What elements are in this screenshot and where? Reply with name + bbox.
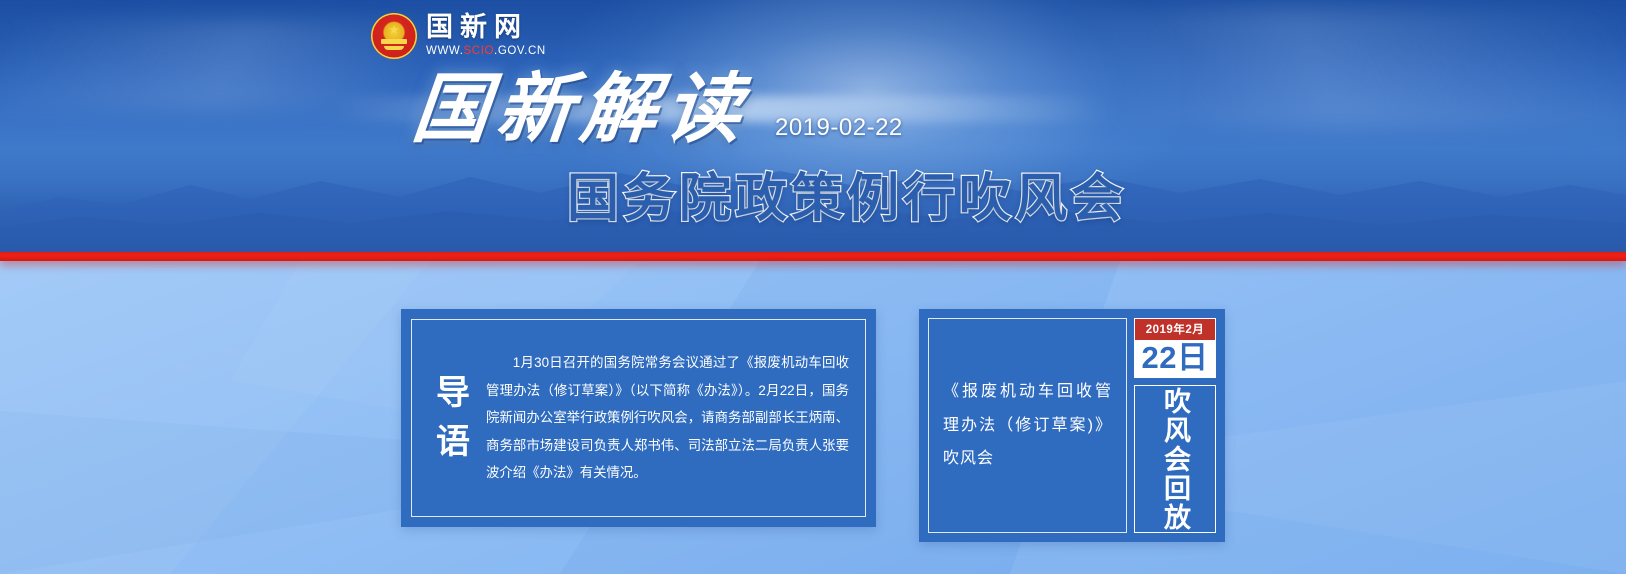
red-divider-bar — [0, 252, 1626, 261]
cards-row: 导语 1月30日召开的国务院常务会议通过了《报废机动车回收管理办法（修订草案）》… — [0, 261, 1626, 574]
national-emblem-icon: ★ — [371, 13, 417, 59]
replay-title-box: 《报废机动车回收管理办法（修订草案)》吹风会 — [928, 318, 1127, 533]
logo-url-prefix: WWW. — [426, 45, 464, 57]
replay-side-column: 2019年2月 22日 吹风会回放 — [1134, 318, 1216, 533]
cloud-decoration-right — [1006, 8, 1626, 128]
site-logo[interactable]: ★ 国新网 WWW.SCIO.GOV.CN — [371, 13, 546, 59]
date-day: 22日 — [1135, 340, 1215, 377]
hero-title-group: 国新解读 2019-02-22 — [413, 72, 903, 148]
logo-url-mid: SCIO — [464, 45, 495, 57]
content-area: 导语 1月30日召开的国务院常务会议通过了《报废机动车回收管理办法（修订草案）》… — [0, 261, 1626, 574]
hero-date: 2019-02-22 — [775, 114, 903, 142]
logo-url: WWW.SCIO.GOV.CN — [426, 46, 546, 58]
intro-card-inner: 导语 1月30日召开的国务院常务会议通过了《报废机动车回收管理办法（修订草案）》… — [411, 319, 866, 517]
replay-playback-button[interactable]: 吹风会回放 — [1134, 385, 1216, 533]
logo-title: 国新网 — [426, 14, 546, 41]
replay-playback-label: 吹风会回放 — [1161, 387, 1189, 532]
hero-subtitle: 国务院政策例行吹风会 — [567, 174, 1127, 226]
page-title: 国新解读 — [409, 72, 753, 148]
replay-card[interactable]: 《报废机动车回收管理办法（修订草案)》吹风会 2019年2月 22日 吹风会回放 — [919, 309, 1225, 542]
replay-title: 《报废机动车回收管理办法（修订草案)》吹风会 — [943, 375, 1112, 476]
scio-press-conference-banner-page: ★ 国新网 WWW.SCIO.GOV.CN 国新解读 2019-02-22 国务… — [0, 0, 1626, 574]
intro-card: 导语 1月30日召开的国务院常务会议通过了《报废机动车回收管理办法（修订草案）》… — [401, 309, 876, 527]
intro-text: 1月30日召开的国务院常务会议通过了《报废机动车回收管理办法（修订草案）》（以下… — [482, 349, 849, 486]
logo-text-block: 国新网 WWW.SCIO.GOV.CN — [426, 14, 546, 58]
date-month: 2019年2月 — [1135, 319, 1215, 340]
emblem-star-icon: ★ — [388, 23, 400, 36]
intro-label: 导语 — [424, 369, 482, 468]
hero-banner: ★ 国新网 WWW.SCIO.GOV.CN 国新解读 2019-02-22 国务… — [0, 0, 1626, 257]
logo-url-suffix: .GOV.CN — [494, 45, 546, 57]
date-badge: 2019年2月 22日 — [1134, 318, 1216, 378]
